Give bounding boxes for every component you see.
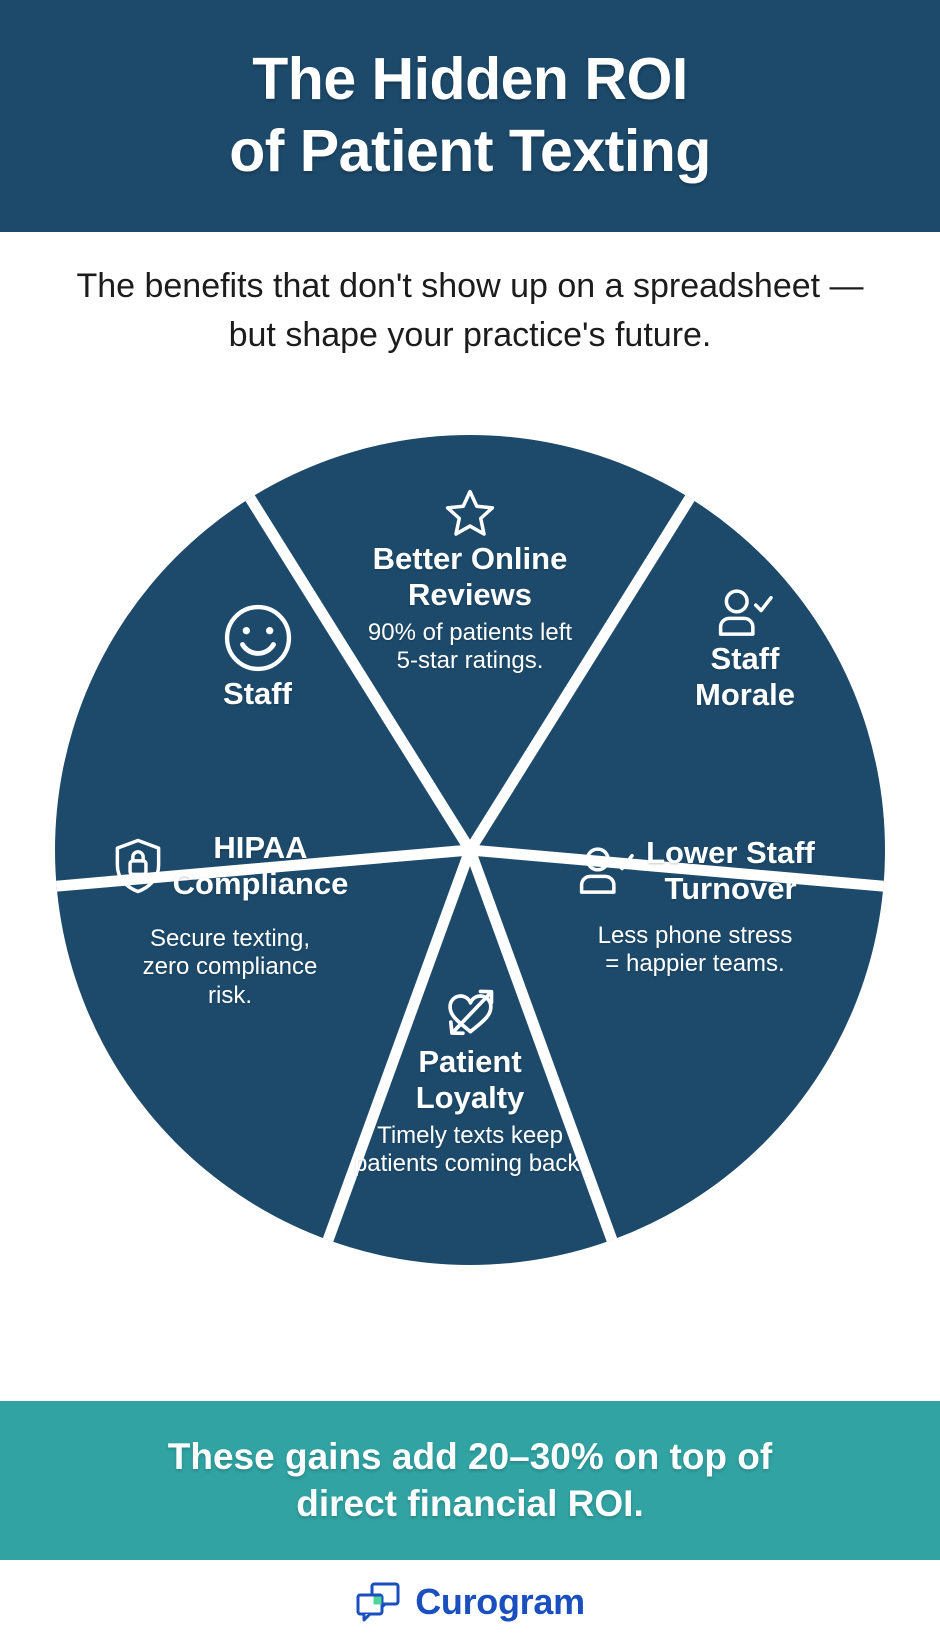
subtitle: The benefits that don't show up on a spr… [0,262,940,361]
brand-footer: Curogram [0,1560,940,1643]
infographic-page: The Hidden ROI of Patient Texting The be… [0,0,940,1643]
callout-line-1: These gains add 20–30% on top of [168,1434,772,1480]
page-title-line-1: The Hidden ROI [252,44,688,116]
pie-chart-svg [45,425,895,1275]
page-title-line-2: of Patient Texting [229,116,711,188]
brand-name: Curogram [415,1581,585,1623]
chat-bubbles-icon [355,1581,401,1623]
header-band: The Hidden ROI of Patient Texting [0,0,940,232]
callout-line-2: direct financial ROI. [296,1481,643,1527]
pie-wheel: Better Online Reviews 90% of patients le… [45,425,895,1275]
callout-band: These gains add 20–30% on top of direct … [0,1401,940,1560]
